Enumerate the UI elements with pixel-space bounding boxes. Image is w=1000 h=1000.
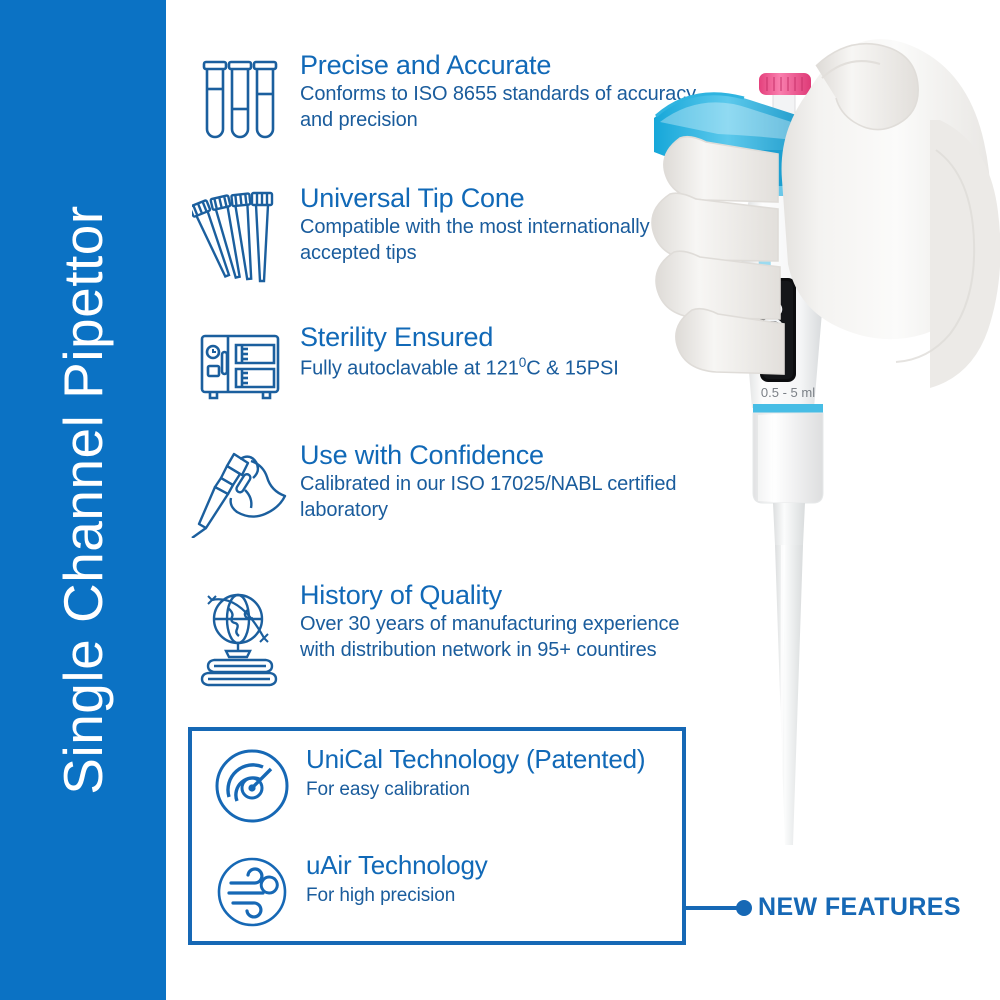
wind-air-icon: [204, 851, 300, 931]
new-feature-text: uAir Technology For high precision: [300, 851, 488, 908]
glove-fingers: [652, 137, 784, 374]
test-tubes-icon: [186, 50, 294, 156]
autoclave-icon: [186, 322, 294, 410]
feature-item-sterility-ensured: Sterility Ensured Fully autoclavable at …: [186, 322, 706, 410]
feature-item-history-of-quality: History of Quality Over 30 years of manu…: [186, 580, 706, 690]
feature-item-universal-tip-cone: Universal Tip Cone Compatible with the m…: [186, 183, 706, 289]
new-feature-description: For high precision: [306, 884, 488, 908]
new-feature-text: UniCal Technology (Patented) For easy ca…: [300, 745, 645, 802]
new-feature-description: For easy calibration: [306, 778, 645, 802]
new-feature-item-unical-technology: UniCal Technology (Patented) For easy ca…: [204, 745, 645, 825]
volume-range-label: 0.5 - 5 ml: [761, 385, 815, 400]
plunger-button: [759, 73, 811, 95]
feature-item-precise-and-accurate: Precise and Accurate Conforms to ISO 865…: [186, 50, 706, 156]
feature-item-use-with-confidence: Use with Confidence Calibrated in our IS…: [186, 440, 706, 538]
new-feature-title: uAir Technology: [306, 851, 488, 880]
hand-pipette-icon: [186, 440, 294, 538]
globe-books-icon: [186, 580, 294, 690]
new-features-box: UniCal Technology (Patented) For easy ca…: [188, 727, 686, 945]
pipette-tips-icon: [186, 183, 294, 289]
feature-text: Sterility Ensured Fully autoclavable at …: [294, 322, 619, 382]
new-feature-item-uair-technology: uAir Technology For high precision: [204, 851, 488, 931]
left-banner: Single Channel Pipettor: [0, 0, 166, 1000]
new-features-connector-dot: [736, 900, 752, 916]
new-feature-title: UniCal Technology (Patented): [306, 745, 645, 774]
feature-title: Sterility Ensured: [300, 322, 619, 352]
feature-description: Fully autoclavable at 1210C & 15PSI: [300, 354, 619, 382]
product-photo: 5.00 0.5 - 5 ml: [640, 0, 1000, 900]
gauge-dial-icon: [204, 745, 300, 825]
new-features-connector-line: [686, 906, 742, 910]
banner-title: Single Channel Pipettor: [51, 205, 115, 794]
poster-canvas: Single Channel Pipettor Precise a: [0, 0, 1000, 1000]
